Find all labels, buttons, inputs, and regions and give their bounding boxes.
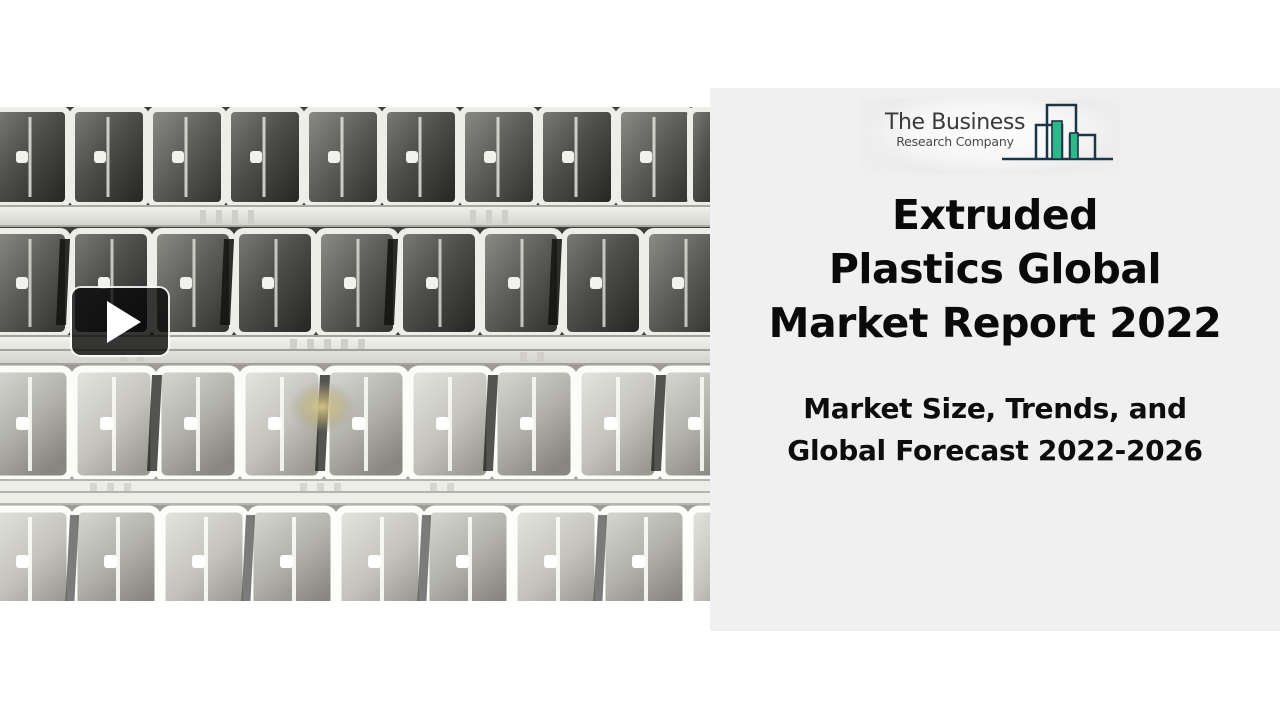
subtitle-line-1: Market Size, Trends, and bbox=[710, 388, 1280, 430]
report-subtitle: Market Size, Trends, and Global Forecast… bbox=[710, 388, 1280, 472]
bar-chart-logo-icon bbox=[1000, 99, 1115, 169]
title-line-1: Extruded bbox=[710, 188, 1280, 242]
video-thumbnail[interactable] bbox=[0, 107, 712, 601]
title-line-3: Market Report 2022 bbox=[710, 296, 1280, 350]
play-icon bbox=[107, 301, 141, 343]
subtitle-line-2: Global Forecast 2022-2026 bbox=[710, 430, 1280, 472]
slide-root: The Business Research Company Extruded P… bbox=[0, 0, 1280, 720]
report-title: Extruded Plastics Global Market Report 2… bbox=[710, 188, 1280, 350]
report-info-panel: The Business Research Company Extruded P… bbox=[710, 88, 1280, 631]
title-line-2: Plastics Global bbox=[710, 242, 1280, 296]
company-logo[interactable]: The Business Research Company bbox=[860, 94, 1120, 174]
play-button[interactable] bbox=[72, 288, 168, 355]
